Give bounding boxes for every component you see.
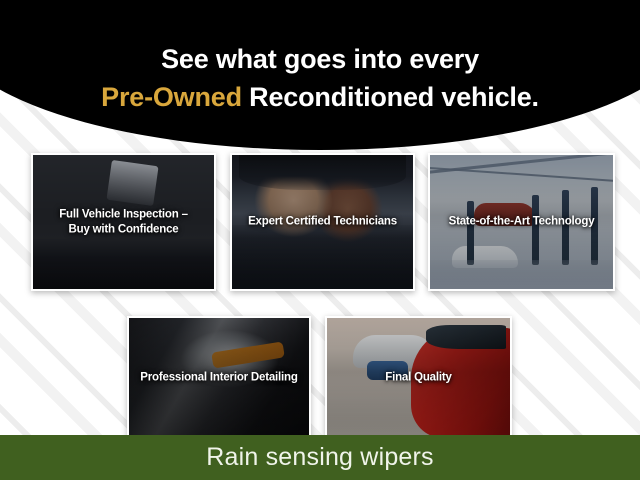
feature-card-final-quality[interactable]: Final Quality <box>325 316 512 440</box>
footer-caption-label: Rain sensing wipers <box>206 443 434 472</box>
feature-card-caption: Expert Certified Technicians <box>236 215 409 230</box>
feature-card-professional-interior-detailing[interactable]: Professional Interior Detailing <box>127 316 311 440</box>
feature-card-expert-certified-technicians[interactable]: Expert Certified Technicians <box>230 153 415 291</box>
feature-card-caption: Professional Interior Detailing <box>133 371 305 386</box>
vehicle-recon-banner: See what goes into every Pre-Owned Recon… <box>0 0 640 480</box>
feature-card-full-vehicle-inspection[interactable]: Full Vehicle Inspection – Buy with Confi… <box>31 153 216 291</box>
feature-card-state-of-the-art-technology[interactable]: State-of-the-Art Technology <box>428 153 615 291</box>
feature-card-caption: Full Vehicle Inspection – Buy with Confi… <box>37 207 210 236</box>
feature-card-caption: Final Quality <box>331 371 506 386</box>
feature-card-caption: State-of-the-Art Technology <box>434 215 609 230</box>
footer-caption-bar: Rain sensing wipers <box>0 435 640 480</box>
